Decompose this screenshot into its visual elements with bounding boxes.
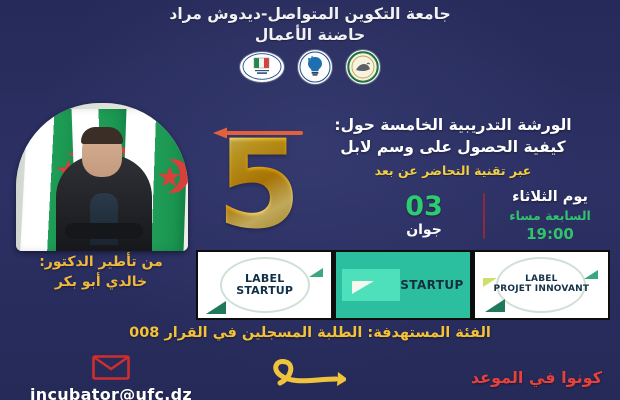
event-day-block: يوم الثلاثاء السابعة مساء 19:00 [490,188,610,244]
event-day-number: 03 [370,193,478,221]
workshop-number-badge: 5 [213,128,305,246]
speaker-portrait: ★ ★ ★ [16,103,188,251]
contact-email-block: incubator@ufc.dz [6,355,216,400]
label-image-strip: LABEL PROJET INNOVANT STARTUP LABEL STAR… [196,250,610,320]
event-time-text: السابعة مساء [490,207,610,225]
datetime-divider [483,193,485,239]
cta-arrow-icon [236,355,346,400]
card-label-startup: LABEL STARTUP [198,252,331,318]
event-datetime: يوم الثلاثاء السابعة مساء 19:00 03 جوان [370,188,610,244]
supervisor-prefix: من تأطير الدكتور: [8,252,194,272]
card-label-line-2: STARTUP [236,285,293,297]
incubator-bulb-logo [298,50,332,84]
event-day-name: يوم الثلاثاء [490,188,610,207]
paper-plane-icon [309,268,323,277]
card-label-text: LABEL PROJET INNOVANT [493,275,589,295]
paper-plane-icon [206,301,226,314]
header-line-2: حاضنة الأعمال [0,25,620,46]
workshop-subtitle: عبر تقنية التحاضر عن بعد [294,160,612,181]
card-startup: STARTUP [336,252,469,318]
logo-row [0,50,620,84]
poster-header: جامعة التكوين المتواصل-ديدوش مراد حاضنة … [0,4,620,84]
supervisor-block: من تأطير الدكتور: خالدي أبو بكر [8,252,194,293]
paper-plane-icon [352,281,374,294]
card-label-line-2: PROJET INNOVANT [493,285,589,295]
event-time-value: 19:00 [490,225,610,245]
event-month: جوان [370,222,478,240]
university-seal-logo [346,50,380,84]
workshop-poster: جامعة التكوين المتواصل-ديدوش مراد حاضنة … [0,0,620,400]
speaker-hair [81,127,123,144]
card-label-text: LABEL STARTUP [236,273,293,297]
partner-oval-logo [240,52,284,82]
envelope-icon [92,355,130,380]
workshop-title-block: الورشة التدريبية الخامسة حول: كيفية الحص… [294,114,612,181]
cta-text: كونوا في الموعد [471,368,602,387]
supervisor-name: خالدي أبو بكر [8,272,194,292]
card-label-projet-innovant: LABEL PROJET INNOVANT [475,252,608,318]
contact-email[interactable]: incubator@ufc.dz [6,385,216,400]
workshop-title-line-2: كيفية الحصول على وسم لابل [294,136,612,159]
speaker-arms [65,223,143,239]
workshop-title-line-1: الورشة التدريبية الخامسة حول: [294,114,612,136]
target-audience: الفئة المستهدفة: الطلبة المسجلين في القر… [0,325,620,341]
card-label-text: STARTUP [400,278,463,292]
header-line-1: جامعة التكوين المتواصل-ديدوش مراد [0,4,620,25]
event-date-block: 03 جوان [370,193,478,239]
paper-plane-icon [485,299,505,312]
